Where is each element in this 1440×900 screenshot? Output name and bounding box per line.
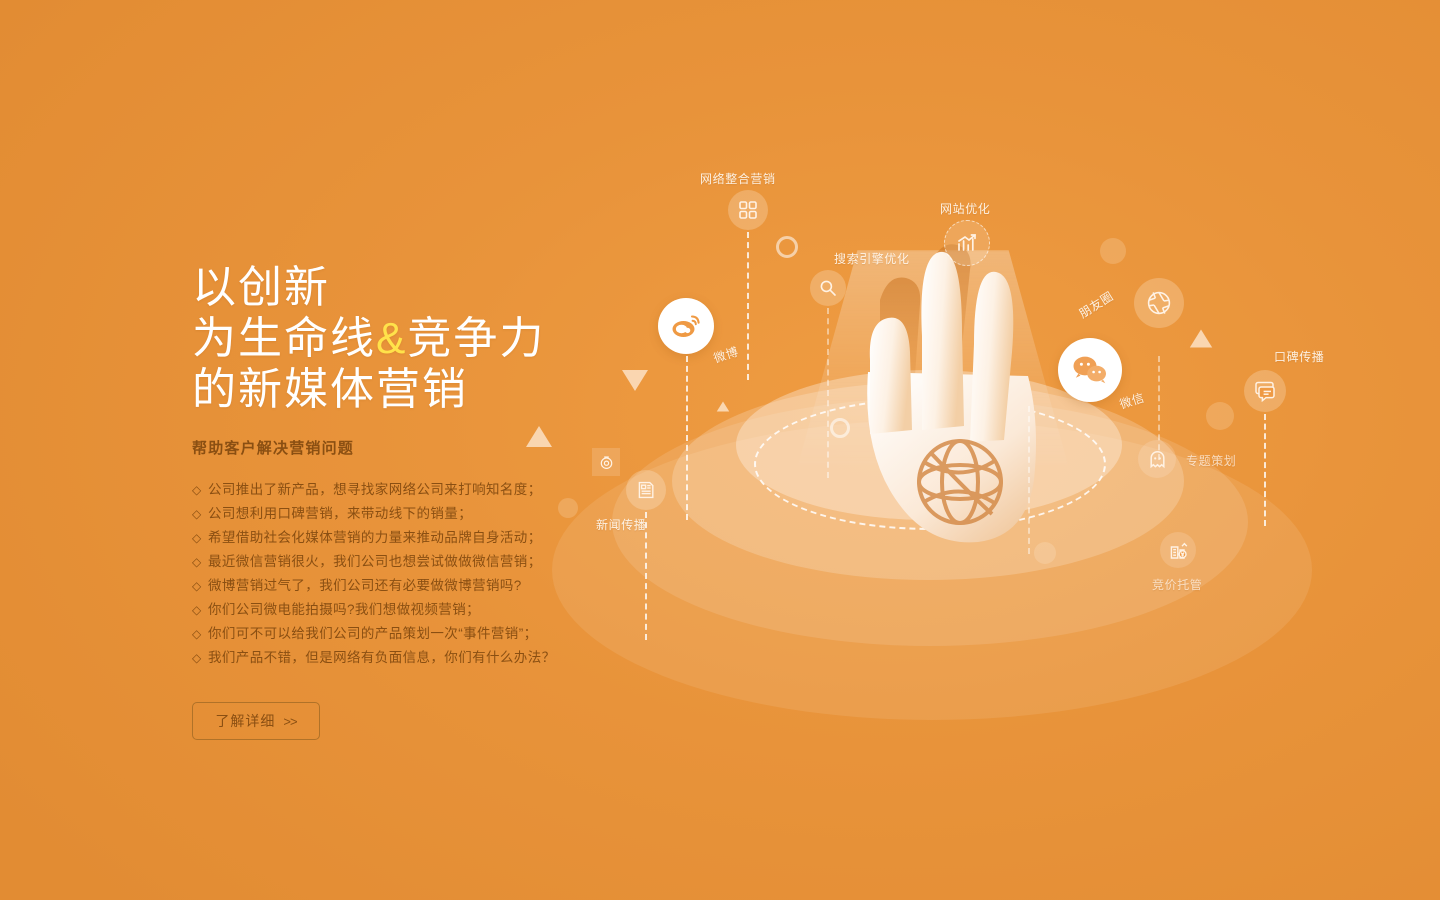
grid-icon[interactable]	[728, 190, 768, 230]
diamond-icon: ◇	[192, 550, 208, 574]
triangle-up-decoration	[1190, 329, 1212, 347]
circle-fill-decoration	[558, 498, 578, 518]
headline-line-2-a: 为生命线	[192, 314, 376, 363]
node-stem	[686, 356, 688, 520]
diamond-icon: ◇	[192, 502, 208, 526]
ghost-icon[interactable]	[1138, 440, 1176, 478]
node-stem	[1028, 406, 1030, 554]
list-item-text: 你们可不可以给我们公司的产品策划一次“事件营销”；	[208, 622, 538, 646]
circle-fill-decoration	[1206, 402, 1234, 430]
compass-icon	[592, 448, 620, 476]
wechat-icon[interactable]	[1058, 338, 1122, 402]
diamond-icon: ◇	[192, 574, 208, 598]
circle-outline-decoration	[776, 236, 798, 258]
bar-chart-icon[interactable]	[944, 220, 990, 266]
diamond-icon: ◇	[192, 598, 208, 622]
node-label: 搜索引擎优化	[834, 250, 910, 267]
node-stem	[747, 232, 749, 380]
list-item-text: 我们产品不错，但是网络有负面信息，你们有什么办法？	[208, 646, 556, 670]
hero-banner: 以创新 为生命线&竞争力 的新媒体营销 帮助客户解决营销问题 ◇公司推出了新产品…	[0, 0, 1440, 900]
magnifier-icon[interactable]	[810, 270, 846, 306]
node-label: 微信	[1117, 389, 1146, 413]
list-item-text: 公司想利用口碑营销，来带动线下的销量；	[208, 502, 472, 526]
chat-bubbles-icon[interactable]	[1244, 370, 1286, 412]
node-stem	[645, 512, 647, 640]
node-label: 网络整合营销	[700, 170, 776, 187]
triangle-up-decoration	[717, 401, 729, 411]
list-item-text: 微博营销过气了，我们公司还有必要做微博营销吗?	[208, 574, 522, 598]
document-icon[interactable]	[626, 470, 666, 510]
double-chevron-right-icon: >>	[283, 714, 296, 729]
list-item-text: 公司推出了新产品，想寻找家网络公司来打响知名度；	[208, 478, 542, 502]
node-stem	[827, 308, 829, 478]
node-stem	[1264, 414, 1266, 526]
list-item-text: 最近微信营销很火，我们公司也想尝试做做微信营销；	[208, 550, 542, 574]
bid-chart-icon[interactable]	[1160, 532, 1196, 568]
headline-line-2-b: 竞争力	[407, 314, 545, 363]
diamond-icon: ◇	[192, 646, 208, 670]
node-label: 专题策划	[1186, 452, 1236, 469]
diamond-icon: ◇	[192, 478, 208, 502]
learn-more-label: 了解详细	[215, 711, 275, 731]
headline-ampersand: &	[376, 314, 407, 363]
node-label: 口碑传播	[1274, 348, 1324, 365]
node-label: 微博	[711, 343, 740, 367]
weibo-icon[interactable]	[658, 298, 714, 354]
list-item-text: 希望借助社会化媒体营销的力量来推动品牌自身活动；	[208, 526, 542, 550]
list-item-text: 你们公司微电能拍摄吗?我们想做视频营销；	[208, 598, 480, 622]
node-label: 新闻传播	[596, 516, 646, 533]
diamond-icon: ◇	[192, 622, 208, 646]
hand-globe-illustration	[840, 240, 1040, 570]
node-label: 网站优化	[940, 200, 990, 217]
node-label: 竞价托管	[1152, 576, 1202, 593]
aperture-icon[interactable]	[1134, 278, 1184, 328]
marketing-illustration: 网络整合营销 搜索引擎优化	[540, 130, 1440, 750]
node-label: 朋友圈	[1075, 287, 1116, 321]
circle-fill-decoration	[1100, 238, 1126, 264]
learn-more-button[interactable]: 了解详细 >>	[192, 702, 320, 740]
triangle-down-decoration	[622, 370, 648, 391]
diamond-icon: ◇	[192, 526, 208, 550]
